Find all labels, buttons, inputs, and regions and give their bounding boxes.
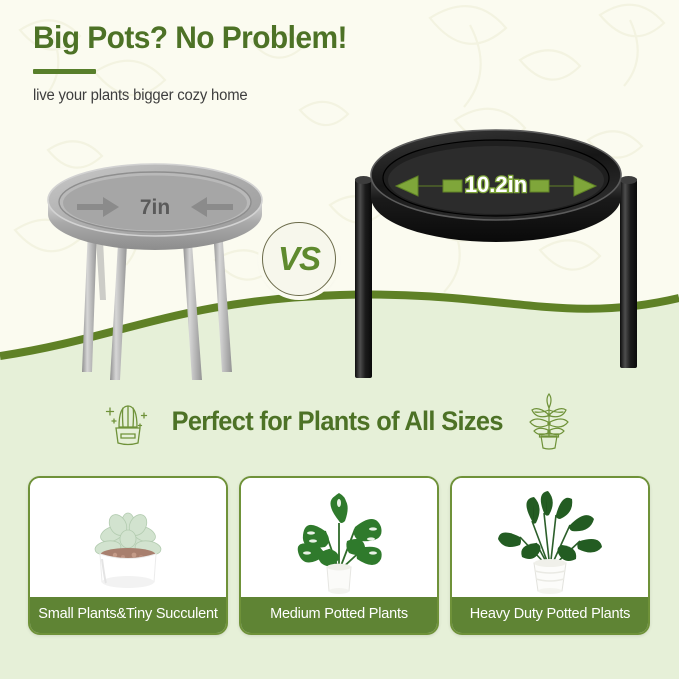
section-heading-row: Perfect for Plants of All Sizes: [0, 392, 679, 450]
potted-plant-icon: [524, 392, 574, 450]
card-heavy-duty-plants[interactable]: Heavy Duty Potted Plants: [450, 476, 650, 635]
bird-of-paradise-graphic: [498, 491, 602, 594]
section-title: Perfect for Plants of All Sizes: [172, 406, 503, 437]
page-subtitle: live your plants bigger cozy home: [33, 87, 609, 105]
vs-badge: VS: [262, 222, 336, 296]
card-image-monstera: [241, 478, 437, 597]
card-medium-plants[interactable]: Medium Potted Plants: [239, 476, 439, 635]
card-label-medium-plants: Medium Potted Plants: [241, 597, 437, 633]
title-underline-rule: [33, 69, 96, 74]
succulent-graphic: [94, 512, 162, 588]
card-small-plants[interactable]: Small Plants&Tiny Succulent: [28, 476, 228, 635]
black-size-label: 10.2in: [465, 172, 527, 197]
header-block: Big Pots? No Problem! live your plants b…: [33, 20, 633, 105]
infographic-root: 7in 10.2in: [0, 0, 679, 679]
card-image-succulent: [30, 478, 226, 597]
cactus-icon: [105, 394, 151, 448]
gray-size-label: 7in: [140, 196, 170, 219]
plant-size-cards: Small Plants&Tiny Succulent: [28, 476, 651, 635]
gray-stand-legs: [82, 228, 232, 380]
vs-badge-label: VS: [278, 240, 320, 278]
card-label-heavy-duty-plants: Heavy Duty Potted Plants: [452, 597, 648, 633]
page-title: Big Pots? No Problem!: [33, 20, 603, 55]
black-plant-stand: 10.2in: [355, 130, 637, 378]
monstera-graphic: [298, 493, 382, 594]
card-label-small-plants: Small Plants&Tiny Succulent: [30, 597, 226, 633]
gray-plant-stand: 7in: [48, 164, 262, 380]
card-image-bird-of-paradise: [452, 478, 648, 597]
